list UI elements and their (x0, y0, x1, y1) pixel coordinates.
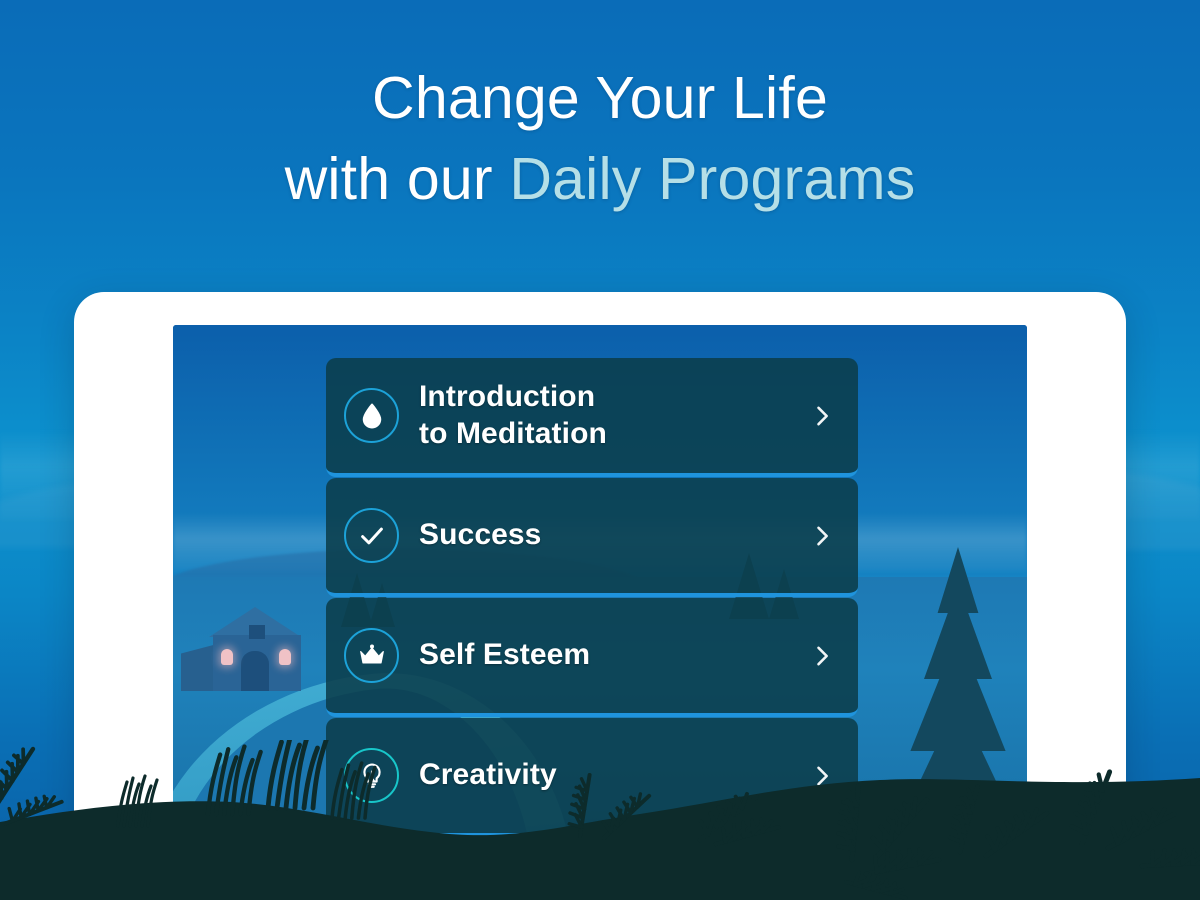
water-drop-icon (344, 388, 399, 443)
program-card-creativity[interactable]: Creativity (326, 718, 858, 837)
barn-illustration (197, 607, 317, 695)
check-circle-icon (344, 508, 399, 563)
barn-window-right (279, 649, 291, 665)
promo-headline: Change Your Life with our Daily Programs (0, 58, 1200, 221)
program-label: Creativity (419, 757, 808, 794)
chevron-right-icon[interactable] (808, 762, 836, 790)
headline-line-2-plain: with our (285, 146, 510, 212)
tablet-screen: Introduction to Meditation Success (173, 325, 1027, 885)
program-label: Introduction to Meditation (419, 379, 808, 452)
barn-window-left (221, 649, 233, 665)
barn-loft-window (249, 625, 265, 639)
crown-icon (344, 628, 399, 683)
program-list: Introduction to Meditation Success (326, 358, 858, 865)
barn-door (241, 651, 269, 691)
chevron-right-icon[interactable] (808, 642, 836, 670)
program-label: Success (419, 517, 808, 554)
chevron-right-icon[interactable] (808, 522, 836, 550)
headline-line-1: Change Your Life (0, 58, 1200, 139)
program-card-success[interactable]: Success (326, 478, 858, 597)
lightbulb-icon (344, 748, 399, 803)
program-card-next-partial[interactable] (326, 838, 858, 864)
program-card-self-esteem[interactable]: Self Esteem (326, 598, 858, 717)
program-card-introduction-to-meditation[interactable]: Introduction to Meditation (326, 358, 858, 477)
program-label: Self Esteem (419, 637, 808, 674)
headline-line-2: with our Daily Programs (0, 139, 1200, 220)
tablet-device: Introduction to Meditation Success (74, 292, 1126, 852)
chevron-right-icon[interactable] (808, 402, 836, 430)
headline-line-2-accent: Daily Programs (509, 146, 915, 212)
